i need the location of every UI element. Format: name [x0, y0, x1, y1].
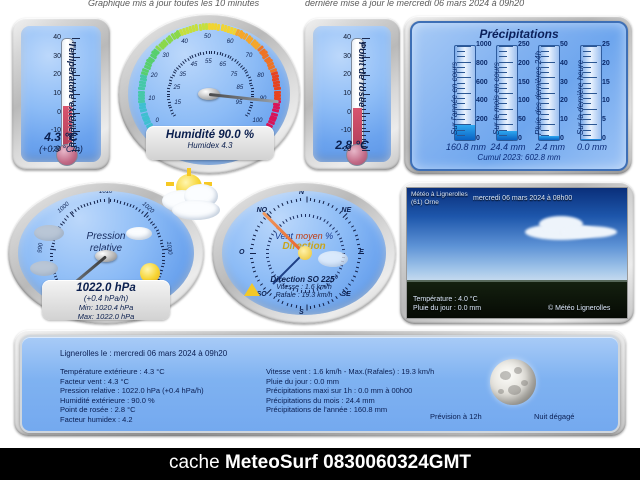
wind-title: Vent moyen % — [222, 231, 386, 241]
sun-ray-icon — [187, 168, 191, 176]
weather-icon-overlay — [158, 172, 232, 228]
pressure-value: 1022.0 hPa — [42, 282, 170, 294]
precipitation-tick-label: 800 — [476, 60, 488, 67]
precipitation-tick-label: 20 — [602, 60, 610, 67]
humidity-inner-label: 75 — [231, 72, 238, 78]
pressure-tick — [120, 201, 122, 204]
humidity-inner-tick — [251, 88, 254, 89]
humidity-inner-tick — [214, 51, 215, 54]
compass-tick — [307, 197, 308, 203]
compass-tick — [260, 221, 263, 224]
precipitation-tick-label: 600 — [476, 79, 488, 86]
humidity-inner-tick — [200, 52, 202, 55]
humidity-tick-label: 60 — [227, 39, 234, 45]
pressure-tick — [83, 204, 85, 207]
humidity-tick-label: 70 — [246, 53, 253, 59]
compass-tick — [291, 200, 293, 203]
humidity-inner-tick — [172, 74, 175, 76]
summary-face: Lignerolles le : mercredi 06 mars 2024 à… — [20, 335, 620, 433]
compass-inner-tick — [267, 261, 270, 263]
humidity-inner-tick — [197, 53, 199, 56]
humidity-inner-tick — [167, 94, 170, 95]
pressure-tick — [110, 199, 111, 202]
compass-inner-tick — [282, 221, 285, 224]
pressure-tick — [114, 199, 115, 202]
compass-inner-tick — [320, 217, 322, 220]
compass-tick — [277, 299, 279, 302]
thermometer-tick-label: -10 — [341, 127, 351, 134]
compass-tick — [314, 305, 316, 308]
compass-tick — [327, 203, 329, 206]
taskbar-code: 0830060324GMT — [318, 452, 471, 473]
thermometer-tick-label: 30 — [343, 53, 351, 60]
forecast-value: Nuit dégagé — [534, 412, 574, 421]
humidity-value: Humidité 90.0 % — [146, 129, 274, 141]
partly-cloudy-icon — [126, 227, 152, 240]
humidity-inner-tick — [245, 114, 248, 116]
pressure-tick — [154, 226, 157, 228]
compass-label: N — [299, 191, 304, 196]
compass-inner-tick — [301, 214, 302, 217]
pressure-tick — [126, 203, 128, 206]
humidity-inner-tick — [180, 63, 183, 66]
dew-point-label: Point de rosée — [356, 42, 367, 146]
storm-cloud-icon — [30, 261, 58, 276]
pressure-tick — [129, 204, 131, 207]
compass-inner-tick — [297, 215, 299, 218]
wind-compass-panel[interactable]: NNEESESSOONO Vent moyen % Direction Dire… — [212, 182, 396, 324]
compass-inner-tick — [339, 268, 342, 270]
pressure-tick — [161, 266, 164, 268]
wind-warning-icon — [244, 283, 260, 296]
thermometer-tick-label: 10 — [343, 90, 351, 97]
pressure-tick — [123, 201, 125, 204]
thermometer-tick-label: 30 — [53, 53, 61, 60]
pressure-readout-plate: 1022.0 hPa (+0.4 hPa/h) Min: 1020.4 hPa … — [42, 280, 170, 320]
compass-inner-tick — [285, 219, 287, 222]
compass-tick — [252, 267, 255, 269]
thermometer-tick-label: 0 — [57, 109, 61, 116]
webcam-timestamp: mercredi 06 mars 2024 à 08h00 — [473, 195, 572, 202]
wind-title-c: % — [325, 231, 333, 241]
compass-inner-tick — [266, 253, 269, 254]
humidity-arc-segment — [138, 97, 145, 100]
compass-inner-tick — [268, 264, 271, 266]
compass-tick — [356, 267, 359, 269]
humidity-tick-label: 80 — [257, 73, 264, 79]
precipitation-title: Précipitations — [412, 27, 626, 41]
precipitation-cumul: Cumul 2023: 602.8 mm — [412, 153, 626, 162]
pressure-tick — [162, 260, 165, 261]
thermometer-tick-label: 40 — [53, 34, 61, 41]
summary-right-line: Précipitations maxi sur 1h : 0.0 mm à 00… — [266, 386, 412, 395]
precipitation-tick-label: 50 — [560, 41, 568, 48]
precipitation-tick-label: 1000 — [476, 41, 492, 48]
humidity-inner-tick — [250, 102, 253, 104]
humidity-inner-label: 35 — [179, 72, 186, 78]
compass-tick — [277, 205, 279, 208]
compass-tick — [331, 299, 333, 302]
humidity-inner-tick — [251, 94, 254, 95]
pressure-tick — [100, 199, 101, 202]
webcam-image: Météo à Lignerolles (61) Orne mercredi 0… — [406, 187, 628, 319]
humidity-gauge-panel[interactable]: 0102030405060708090100152535455565758595… — [118, 14, 300, 174]
precipitation-gauge-label: Sur le mois en cours — [492, 62, 501, 135]
compass-tick — [250, 253, 256, 254]
pressure-tick-label: 1010 — [99, 191, 112, 195]
compass-tick — [251, 262, 254, 264]
wind-compass-face: NNEESESSOONO Vent moyen % Direction Dire… — [222, 191, 386, 315]
compass-inner-tick — [332, 227, 335, 230]
compass-tick — [355, 271, 358, 273]
humidity-inner-tick — [247, 112, 250, 114]
compass-tick — [314, 199, 316, 202]
humidity-inner-tick — [170, 77, 173, 79]
precipitation-tick-label: 400 — [476, 97, 488, 104]
humidity-inner-tick — [225, 54, 227, 57]
webcam-station-line2: (61) Orne — [411, 199, 439, 206]
precipitation-tick-label: 200 — [518, 60, 530, 67]
thermometer-tick-label: 0 — [347, 109, 351, 116]
humidity-inner-tick — [248, 79, 251, 81]
pressure-tick — [60, 224, 63, 227]
pressure-rate: (+0.4 hPa/h) — [42, 294, 170, 303]
compass-inner-tick — [271, 271, 274, 273]
compass-inner-tick — [327, 221, 330, 224]
compass-tick — [319, 304, 321, 307]
precipitation-tick-label: 40 — [560, 60, 568, 67]
precipitation-tick-label: 15 — [602, 79, 610, 86]
humidity-inner-tick — [250, 104, 253, 106]
pressure-tick — [138, 209, 141, 212]
compass-inner-tick — [269, 268, 272, 270]
summary-panel[interactable]: Lignerolles le : mercredi 06 mars 2024 à… — [14, 330, 626, 436]
humidity-tick-label: 30 — [162, 53, 169, 59]
webcam-cloud — [561, 226, 617, 238]
humidex-value: Humidex 4.3 — [146, 141, 274, 150]
precipitation-tick-label: 0 — [518, 135, 522, 142]
pressure-tick — [72, 211, 75, 214]
compass-inner-tick — [323, 219, 325, 222]
compass-inner-tick — [313, 215, 315, 218]
pressure-tick — [141, 211, 144, 214]
forecast-label: Prévision à 12h — [430, 412, 482, 421]
humidity-inner-tick — [222, 53, 224, 56]
taskbar-title: cache MeteoSurf 0830060324GMT — [0, 452, 640, 474]
webcam-rain: Pluie du jour : 0.0 mm — [413, 305, 481, 312]
precipitation-gauge-value: 0.0 mm — [566, 142, 618, 152]
precipitation-panel[interactable]: Précipitations 10008006004002000Sur l'an… — [404, 16, 632, 174]
humidity-inner-tick — [211, 51, 212, 54]
humidity-inner-tick — [176, 67, 179, 70]
compass-inner-tick — [289, 217, 291, 220]
humidity-inner-tick — [168, 82, 171, 84]
compass-tick — [310, 198, 311, 201]
pressure-tick — [161, 263, 164, 264]
webcam-station-line1: Météo à Lignerolles — [411, 191, 468, 198]
weather-dashboard: Graphique mis à jour toutes les 10 minut… — [0, 0, 640, 480]
taskbar-brand: MeteoSurf — [225, 452, 318, 473]
humidity-tick-label: 40 — [181, 39, 188, 45]
compass-tick — [257, 225, 260, 227]
wind-title-b: moyen — [296, 231, 323, 241]
summary-left-line: Facteur humidex : 4.2 — [60, 415, 133, 424]
precipitation-tick-label: 200 — [476, 116, 488, 123]
summary-left-line: Température extérieure : 4.3 °C — [60, 367, 165, 376]
wind-needle-hub — [298, 246, 312, 260]
pressure-tick — [117, 200, 119, 203]
precipitation-tick-label: 0 — [560, 135, 564, 142]
humidity-inner-label: 25 — [173, 85, 180, 91]
humidity-inner-label: 45 — [191, 62, 198, 68]
thermometer-tick-label: 20 — [53, 71, 61, 78]
compass-tick — [282, 301, 284, 304]
thermometer-tick-label: 20 — [343, 71, 351, 78]
humidity-inner-tick — [206, 51, 207, 54]
moon-phase-icon — [490, 359, 536, 405]
compass-tick — [335, 208, 338, 211]
humidity-inner-label: 15 — [174, 100, 181, 106]
pressure-tick — [74, 209, 77, 212]
pressure-tick — [152, 224, 155, 227]
pressure-min: Min: 1020.4 hPa — [42, 303, 170, 312]
compass-tick — [263, 217, 266, 220]
compass-tick — [331, 205, 333, 208]
wind-cloud-icon — [318, 251, 348, 267]
humidity-inner-tick — [203, 52, 204, 55]
compass-tick — [250, 258, 253, 259]
outdoor-temperature-panel[interactable]: 403020100-10-20 Température extérieure 4… — [12, 18, 110, 170]
humidity-inner-tick — [167, 91, 170, 92]
humidity-tick-label: 0 — [156, 118, 159, 124]
precipitation-tick-label: 50 — [518, 116, 526, 123]
humidity-inner-tick — [170, 109, 173, 111]
precipitation-gauge-label: Pluie des dernières 24h — [534, 51, 543, 135]
compass-inner-tick — [293, 216, 295, 219]
pressure-tick — [148, 218, 151, 221]
compass-tick — [327, 301, 329, 304]
summary-right-line: Vitesse vent : 1.6 km/h - Max.(Rafales) … — [266, 367, 434, 376]
pressure-tick — [87, 203, 89, 206]
compass-tick — [310, 306, 311, 309]
pressure-tick — [66, 216, 69, 219]
pressure-tick — [54, 276, 57, 278]
overlay-cloud-icon — [172, 200, 220, 220]
compass-tick — [323, 201, 325, 204]
summary-right-line: Précipitations de l'année : 160.8 mm — [266, 405, 387, 414]
rain-cloud-icon — [34, 225, 64, 241]
webcam-panel[interactable]: Météo à Lignerolles (61) Orne mercredi 0… — [400, 182, 634, 324]
pressure-tick — [162, 256, 165, 257]
humidity-arc-segment — [138, 91, 145, 94]
precipitation-tick-label: 30 — [560, 79, 568, 86]
summary-left-line: Pression relative : 1022.0 hPa (+0.4 hPa… — [60, 386, 204, 395]
precipitation-tick-label: 25 — [602, 41, 610, 48]
compass-tick — [291, 304, 293, 307]
compass-tick — [319, 200, 321, 203]
taskbar[interactable]: cache MeteoSurf 0830060324GMT — [0, 448, 640, 480]
compass-tick — [345, 217, 348, 220]
pressure-tick — [160, 269, 163, 271]
precipitation-face: Précipitations 10008006004002000Sur l'an… — [410, 21, 628, 171]
summary-left-line: Humidité extérieure : 90.0 % — [60, 396, 155, 405]
summary-left-line: Facteur vent : 4.3 °C — [60, 377, 129, 386]
compass-label: S — [299, 309, 304, 315]
dew-point-face: 403020100-10-20 Point de rosée 2.8 °C — [313, 26, 391, 162]
thermometer-tick-label: 40 — [343, 34, 351, 41]
humidity-inner-tick — [167, 99, 170, 100]
precipitation-tick-label: 10 — [602, 97, 610, 104]
compass-tick — [323, 303, 325, 306]
humidity-inner-tick — [169, 79, 172, 81]
humidity-inner-tick — [209, 51, 210, 54]
taskbar-prefix: cache — [169, 452, 225, 473]
header-left-note: Graphique mis à jour toutes les 10 minut… — [88, 0, 259, 8]
compass-tick — [357, 262, 360, 264]
compass-tick — [358, 258, 361, 259]
humidity-inner-tick — [168, 102, 171, 104]
humidity-inner-tick — [251, 91, 254, 92]
dew-point-panel[interactable]: 403020100-10-20 Point de rosée 2.8 °C — [304, 18, 400, 170]
precipitation-tick-label: 5 — [602, 116, 606, 123]
compass-inner-tick — [266, 257, 269, 258]
compass-inner-tick — [330, 224, 333, 227]
compass-inner-tick — [316, 216, 318, 219]
compass-inner-tick — [337, 271, 340, 273]
humidity-inner-label: 65 — [219, 62, 226, 68]
humidity-inner-tick — [167, 88, 170, 89]
humidity-tick-label: 20 — [151, 73, 158, 79]
humidity-inner-label: 55 — [205, 59, 212, 65]
pressure-tick — [104, 199, 105, 202]
compass-tick — [282, 203, 284, 206]
pressure-tick — [93, 201, 95, 204]
humidity-inner-tick — [194, 54, 196, 57]
outdoor-temperature-value: 4.3 °C — [21, 130, 101, 144]
summary-right-line: Précipitations du mois : 24.4 mm — [266, 396, 375, 405]
precipitation-gauge-label: Sur la dernière heure — [576, 60, 585, 135]
humidity-inner-tick — [173, 72, 176, 74]
compass-tick — [286, 303, 288, 306]
precipitation-tick-label: 0 — [476, 135, 480, 142]
humidity-inner-label: 85 — [237, 85, 244, 91]
humidity-inner-tick — [192, 55, 194, 58]
humidity-inner-tick — [168, 85, 171, 87]
humidity-tick-label: 100 — [252, 118, 262, 124]
compass-tick — [273, 208, 276, 211]
pressure-tick — [80, 205, 82, 208]
compass-tick — [253, 271, 256, 273]
compass-tick — [351, 225, 354, 227]
pressure-tick — [132, 205, 134, 208]
precipitation-tick-label: 100 — [518, 97, 530, 104]
humidity-arc-segment — [138, 94, 145, 97]
pressure-tick — [50, 256, 53, 257]
compass-inner-tick — [305, 214, 306, 217]
humidity-tick-label: 10 — [148, 96, 155, 102]
header-right-note: dernière mise à jour le mercredi 06 mars… — [305, 0, 524, 8]
humidity-inner-tick — [249, 107, 252, 109]
humidity-inner-tick — [184, 59, 187, 62]
precipitation-tick-label: 20 — [560, 97, 568, 104]
pressure-max: Max: 1022.0 hPa — [42, 312, 170, 321]
compass-tick — [295, 199, 297, 202]
humidity-inner-tick — [217, 52, 218, 55]
humidity-inner-tick — [173, 114, 176, 116]
webcam-credit: © Météo Lignerolles — [548, 305, 610, 312]
humidity-inner-tick — [187, 57, 189, 60]
compass-tick — [307, 305, 308, 311]
humidity-inner-tick — [178, 65, 181, 68]
precipitation-tick-label: 250 — [518, 41, 530, 48]
compass-tick — [295, 305, 297, 308]
precipitation-tick-label: 10 — [560, 116, 568, 123]
summary-left-line: Point de rosée : 2.8 °C — [60, 405, 136, 414]
dew-point-value: 2.8 °C — [313, 138, 391, 152]
pressure-tick — [64, 218, 67, 221]
summary-heading: Lignerolles le : mercredi 06 mars 2024 à… — [60, 349, 227, 358]
pressure-tick — [97, 200, 99, 203]
compass-tick — [269, 211, 272, 214]
header-notes: Graphique mis à jour toutes les 10 minut… — [0, 0, 640, 10]
compass-tick — [300, 198, 301, 201]
humidity-inner-label: 95 — [236, 100, 243, 106]
sun-ray-icon — [166, 182, 174, 186]
outdoor-temperature-face: 403020100-10-20 Température extérieure 4… — [21, 26, 101, 162]
precipitation-tick-label: 0 — [602, 135, 606, 142]
compass-tick — [348, 221, 351, 224]
precipitation-gauge-label: Sur l'année en cours — [450, 62, 459, 135]
humidity-inner-tick — [182, 61, 185, 64]
pressure-tick — [77, 207, 79, 210]
humidity-inner-tick — [250, 85, 253, 87]
thermometer-tick-label: 10 — [53, 90, 61, 97]
pressure-tick — [135, 207, 137, 210]
humidity-inner-tick — [247, 77, 250, 79]
precipitation-scale: 2520151050 — [602, 45, 624, 139]
outdoor-temperature-rate: (+0.9 °C/h) — [21, 144, 101, 154]
precipitation-tick-label: 150 — [518, 79, 530, 86]
humidity-inner-tick — [167, 96, 170, 97]
compass-tick — [286, 201, 288, 204]
humidity-tick-label: 50 — [204, 34, 211, 40]
compass-inner-tick — [309, 214, 310, 217]
compass-label: NE — [341, 207, 351, 214]
webcam-temperature: Température : 4.0 °C — [413, 296, 478, 303]
pressure-tick — [50, 260, 53, 261]
summary-right-line: Pluie du jour : 0.0 mm — [266, 377, 339, 386]
humidity-readout-plate: Humidité 90.0 % Humidex 4.3 — [146, 126, 274, 160]
pressure-tick — [62, 221, 65, 224]
pressure-tick — [146, 216, 149, 219]
humidity-inner-tick — [248, 109, 251, 111]
pressure-tick — [90, 201, 92, 204]
